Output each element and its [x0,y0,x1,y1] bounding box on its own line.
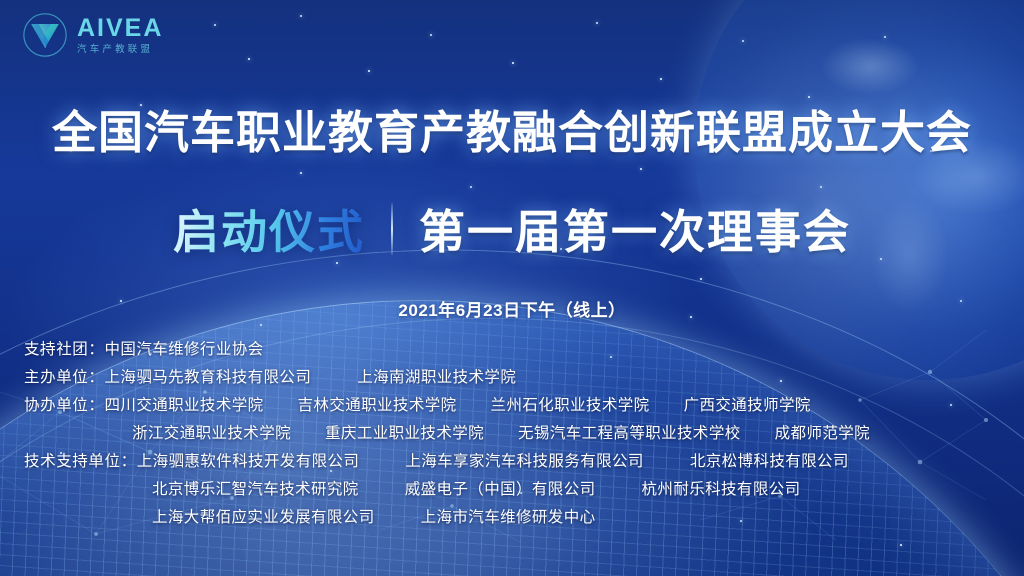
brand-subtitle: 汽车产教联盟 [77,45,163,55]
page-title: 全国汽车职业教育产教融合创新联盟成立大会 [0,96,1024,161]
credit-item: 四川交通职业技术学院 [105,397,264,414]
brand-wordmark: AIVEA 汽车产教联盟 [77,16,163,55]
subtitle-divider [391,203,393,255]
credit-item: 上海南湖职业技术学院 [357,369,516,386]
credit-row: 上海大帮佰应实业发展有限公司上海市汽车维修研发中心 [24,504,1000,532]
credit-label: 技术支持单位： [24,453,137,470]
credit-item: 吉林交通职业技术学院 [298,397,457,414]
credit-item: 浙江交通职业技术学院 [132,425,291,442]
aivea-v-logo-icon [22,12,68,58]
credit-label: 主办单位： [24,369,105,386]
credit-item: 兰州石化职业技术学院 [491,397,650,414]
credit-row: 浙江交通职业技术学院重庆工业职业技术学院无锡汽车工程高等职业技术学校成都师范学院 [24,420,1000,448]
credit-row: 主办单位：上海驷马先教育科技有限公司上海南湖职业技术学院 [24,364,1000,392]
subtitle-row: 启动仪式 第一届第一次理事会 [0,196,1024,262]
credit-item: 北京博乐汇智汽车技术研究院 [152,481,359,498]
credit-item: 中国汽车维修行业协会 [105,341,264,358]
credit-item: 上海市汽车维修研发中心 [421,509,596,526]
poster-canvas: AIVEA 汽车产教联盟 全国汽车职业教育产教融合创新联盟成立大会 启动仪式 第… [0,0,1024,576]
credit-item: 上海驷惠软件科技开发有限公司 [137,453,360,470]
event-date: 2021年6月23日下午（线上） [0,296,1024,321]
credit-item: 重庆工业职业技术学院 [325,425,484,442]
brand-logo[interactable]: AIVEA 汽车产教联盟 [22,12,163,58]
credit-row: 技术支持单位：上海驷惠软件科技开发有限公司上海车享家汽车科技服务有限公司北京松博… [24,448,1000,476]
subtitle-left: 启动仪式 [173,196,365,262]
credit-label: 协办单位： [24,397,105,414]
credit-item: 北京松博科技有限公司 [690,453,849,470]
subtitle-right: 第一届第一次理事会 [419,196,851,262]
credit-item: 上海车享家汽车科技服务有限公司 [405,453,644,470]
credit-item: 威盛电子（中国）有限公司 [405,481,596,498]
credit-item: 广西交通技师学院 [684,397,811,414]
credit-row: 协办单位：四川交通职业技术学院吉林交通职业技术学院兰州石化职业技术学院广西交通技… [24,392,1000,420]
credit-item: 杭州耐乐科技有限公司 [642,481,801,498]
credit-label: 支持社团： [24,341,105,358]
credit-item: 上海大帮佰应实业发展有限公司 [152,509,375,526]
credit-row: 支持社团：中国汽车维修行业协会 [24,336,1000,364]
credit-item: 成都师范学院 [775,425,870,442]
credit-row: 北京博乐汇智汽车技术研究院威盛电子（中国）有限公司杭州耐乐科技有限公司 [24,476,1000,504]
credit-item: 无锡汽车工程高等职业技术学校 [518,425,741,442]
credit-item: 上海驷马先教育科技有限公司 [105,369,312,386]
credits-block: 支持社团：中国汽车维修行业协会主办单位：上海驷马先教育科技有限公司上海南湖职业技… [24,336,1000,532]
brand-name: AIVEA [77,16,163,41]
